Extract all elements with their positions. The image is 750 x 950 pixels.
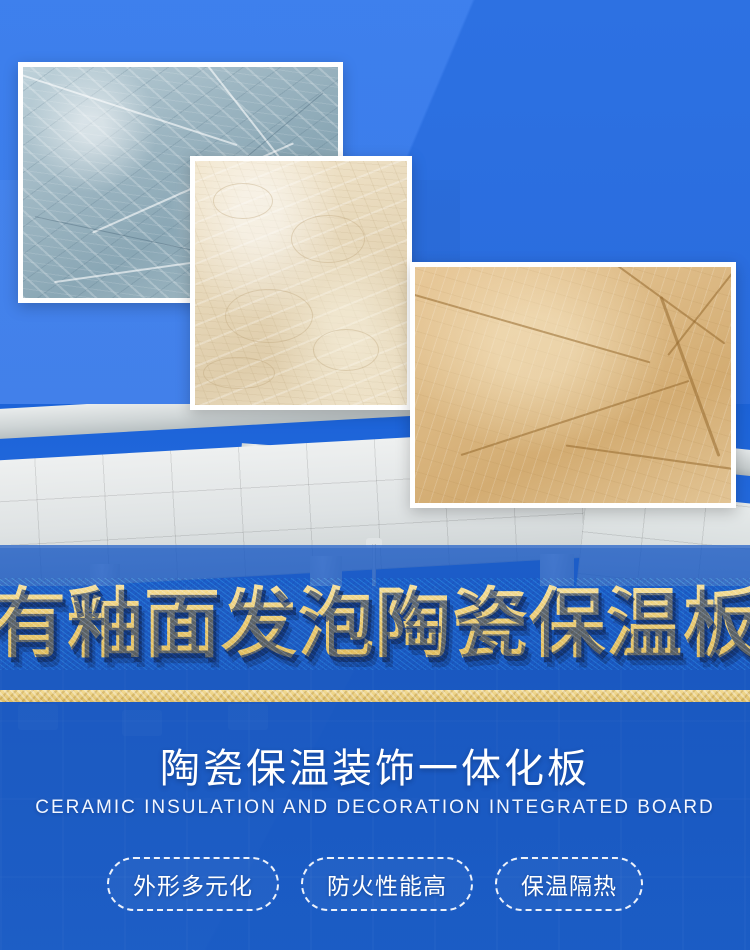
- marble-texture: [415, 267, 731, 503]
- feature-pill-thermal-insulation[interactable]: 保温隔热: [495, 857, 643, 911]
- feature-pill-group: 外形多元化 防火性能高 保温隔热: [0, 857, 750, 911]
- page-title: 有釉面发泡陶瓷保温板: [0, 578, 750, 670]
- travertine-texture: [195, 161, 407, 405]
- list-item[interactable]: [410, 262, 736, 508]
- feature-pill-shape-diversity[interactable]: 外形多元化: [107, 857, 279, 911]
- subtitle-chinese: 陶瓷保温装饰一体化板: [0, 736, 750, 794]
- divider: [0, 690, 750, 702]
- subtitle-english: CERAMIC INSULATION AND DECORATION INTEGR…: [0, 797, 750, 819]
- list-item[interactable]: [190, 156, 412, 410]
- blue-overlay-edge: [0, 545, 750, 548]
- cream-travertine-tile: [195, 161, 407, 405]
- product-banner: 有釉面发泡陶瓷保温板 陶瓷保温装饰一体化板 CERAMIC INSULATION…: [0, 0, 750, 950]
- tan-gold-marble-tile: [415, 267, 731, 503]
- feature-pill-fire-resistance[interactable]: 防火性能高: [301, 857, 473, 911]
